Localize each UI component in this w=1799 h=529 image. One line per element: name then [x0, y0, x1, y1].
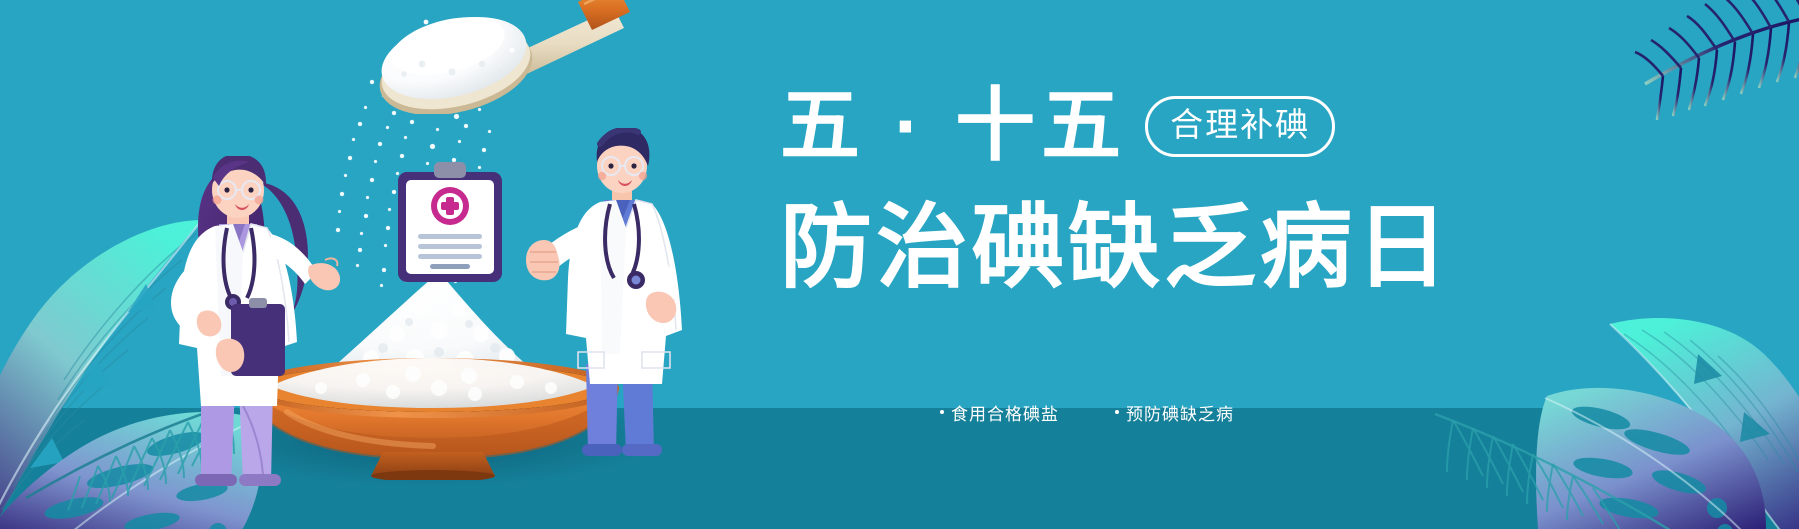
female-doctor-with-clipboard [139, 156, 349, 486]
slogan-badge: 合理补碘 [1145, 96, 1335, 157]
headline-block: 五 · 十五 合理补碘 防治碘缺乏病日 [780, 78, 1420, 328]
palm-frond-icon [1609, 0, 1799, 138]
subline-label-2: 预防碘缺乏病 [1126, 400, 1234, 425]
page-title: 防治碘缺乏病日 [780, 198, 1420, 298]
iodine-deficiency-day-banner: 五 · 十五 合理补碘 防治碘缺乏病日 食用合格碘盐 预防碘缺乏病 [0, 0, 1799, 529]
subline-item-1: 食用合格碘盐 [940, 400, 1059, 425]
bullet-dot-icon [940, 410, 944, 414]
male-doctor-holding-medical-chart [500, 128, 685, 458]
subline-list: 食用合格碘盐 预防碘缺乏病 [940, 396, 1360, 428]
subline-item-2: 预防碘缺乏病 [1115, 400, 1234, 425]
subline-label-1: 食用合格碘盐 [951, 400, 1059, 425]
event-date: 五 · 十五 [780, 83, 1127, 169]
bullet-dot-icon [1115, 410, 1119, 414]
medical-chart-clipboard [394, 158, 506, 286]
headline-line-one: 五 · 十五 合理补碘 [780, 78, 1420, 174]
wooden-spoon-with-salt [352, 0, 632, 114]
